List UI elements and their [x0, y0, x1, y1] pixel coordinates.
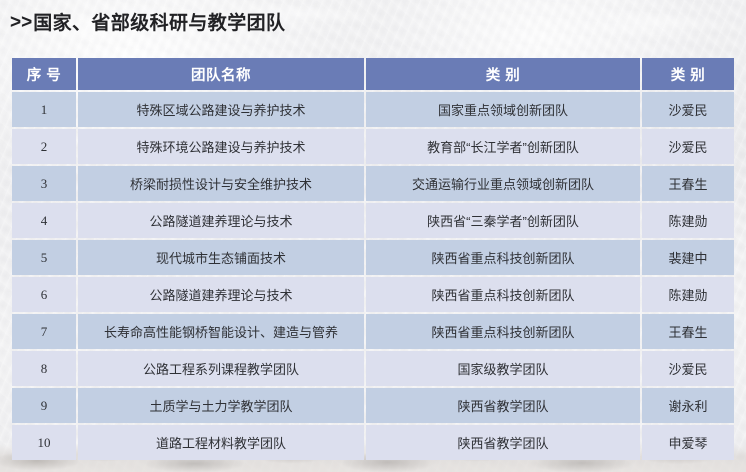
cell-leader: 裴建中 — [642, 240, 734, 275]
cell-no: 5 — [12, 240, 76, 275]
cell-leader: 沙爱民 — [642, 351, 734, 386]
cell-team-name: 桥梁耐损性设计与安全维护技术 — [78, 166, 364, 201]
table-row: 1特殊区域公路建设与养护技术国家重点领域创新团队沙爱民 — [12, 92, 734, 127]
cell-team-name: 土质学与土力学教学团队 — [78, 388, 364, 423]
page-title: 国家、省部级科研与教学团队 — [33, 14, 285, 33]
table-row: 4公路隧道建养理论与技术陕西省“三秦学者”创新团队陈建勋 — [12, 203, 734, 238]
cell-team-name: 特殊区域公路建设与养护技术 — [78, 92, 364, 127]
cell-category: 国家重点领域创新团队 — [366, 92, 640, 127]
cell-no: 2 — [12, 129, 76, 164]
cell-no: 3 — [12, 166, 76, 201]
table-row: 5现代城市生态铺面技术陕西省重点科技创新团队裴建中 — [12, 240, 734, 275]
cell-category: 陕西省教学团队 — [366, 425, 640, 460]
cell-no: 4 — [12, 203, 76, 238]
cell-team-name: 现代城市生态铺面技术 — [78, 240, 364, 275]
column-header-no: 序 号 — [12, 58, 76, 90]
cell-category: 交通运输行业重点领域创新团队 — [366, 166, 640, 201]
cell-category: 教育部“长江学者”创新团队 — [366, 129, 640, 164]
table-header-row: 序 号 团队名称 类 别 类 别 — [12, 58, 734, 90]
cell-leader: 王春生 — [642, 314, 734, 349]
cell-no: 7 — [12, 314, 76, 349]
teams-table: 序 号 团队名称 类 别 类 别 1特殊区域公路建设与养护技术国家重点领域创新团… — [10, 56, 736, 462]
table-header: 序 号 团队名称 类 别 类 别 — [12, 58, 734, 90]
column-header-leader: 类 别 — [642, 58, 734, 90]
cell-category: 陕西省“三秦学者”创新团队 — [366, 203, 640, 238]
cell-team-name: 公路工程系列课程教学团队 — [78, 351, 364, 386]
cell-leader: 陈建勋 — [642, 277, 734, 312]
cell-team-name: 公路隧道建养理论与技术 — [78, 203, 364, 238]
cell-no: 1 — [12, 92, 76, 127]
column-header-category: 类 别 — [366, 58, 640, 90]
table-row: 9土质学与土力学教学团队陕西省教学团队谢永利 — [12, 388, 734, 423]
cell-leader: 沙爱民 — [642, 129, 734, 164]
table-row: 7长寿命高性能钢桥智能设计、建造与管养陕西省重点科技创新团队王春生 — [12, 314, 734, 349]
cell-category: 陕西省重点科技创新团队 — [366, 240, 640, 275]
cell-leader: 谢永利 — [642, 388, 734, 423]
cell-team-name: 公路隧道建养理论与技术 — [78, 277, 364, 312]
table-row: 6公路隧道建养理论与技术陕西省重点科技创新团队陈建勋 — [12, 277, 734, 312]
cell-leader: 王春生 — [642, 166, 734, 201]
cell-no: 8 — [12, 351, 76, 386]
cell-team-name: 道路工程材料教学团队 — [78, 425, 364, 460]
cell-no: 10 — [12, 425, 76, 460]
cell-category: 国家级教学团队 — [366, 351, 640, 386]
table-row: 10道路工程材料教学团队陕西省教学团队申爱琴 — [12, 425, 734, 460]
cell-category: 陕西省重点科技创新团队 — [366, 314, 640, 349]
cell-category: 陕西省教学团队 — [366, 388, 640, 423]
cell-leader: 申爱琴 — [642, 425, 734, 460]
cell-team-name: 特殊环境公路建设与养护技术 — [78, 129, 364, 164]
page-title-bar: >> 国家、省部级科研与教学团队 — [0, 0, 746, 46]
table-row: 8公路工程系列课程教学团队国家级教学团队沙爱民 — [12, 351, 734, 386]
cell-category: 陕西省重点科技创新团队 — [366, 277, 640, 312]
cell-no: 6 — [12, 277, 76, 312]
cell-team-name: 长寿命高性能钢桥智能设计、建造与管养 — [78, 314, 364, 349]
column-header-team-name: 团队名称 — [78, 58, 364, 90]
cell-leader: 沙爱民 — [642, 92, 734, 127]
teams-table-container: 序 号 团队名称 类 别 类 别 1特殊区域公路建设与养护技术国家重点领域创新团… — [10, 56, 736, 462]
table-body: 1特殊区域公路建设与养护技术国家重点领域创新团队沙爱民2特殊环境公路建设与养护技… — [12, 92, 734, 460]
cell-leader: 陈建勋 — [642, 203, 734, 238]
table-row: 3桥梁耐损性设计与安全维护技术交通运输行业重点领域创新团队王春生 — [12, 166, 734, 201]
page-root: >> 国家、省部级科研与教学团队 序 号 团队名称 类 别 类 别 1特殊区域公… — [0, 0, 746, 472]
title-arrow-marker: >> — [10, 12, 32, 34]
cell-no: 9 — [12, 388, 76, 423]
table-row: 2特殊环境公路建设与养护技术教育部“长江学者”创新团队沙爱民 — [12, 129, 734, 164]
